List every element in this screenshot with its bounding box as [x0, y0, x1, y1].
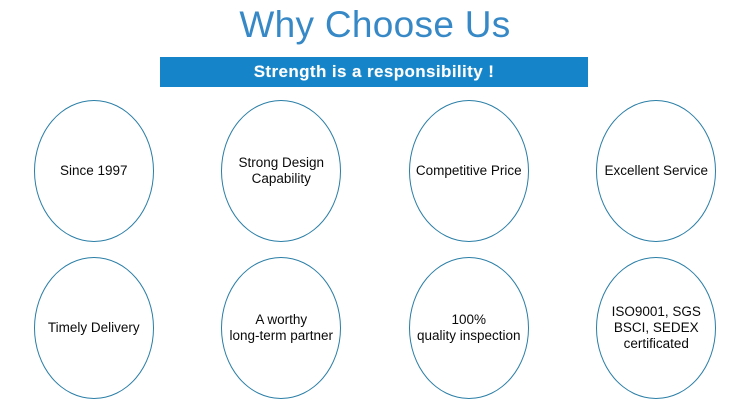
feature-circle-worthy-long-term-partner[interactable]: A worthy long-term partner — [188, 253, 376, 403]
feature-label: ISO9001, SGS BSCI, SEDEX certificated — [612, 304, 701, 352]
feature-label: Since 1997 — [60, 163, 128, 179]
page-title: Why Choose Us — [0, 2, 750, 48]
feature-label-line: Strong Design — [238, 155, 324, 171]
feature-label: A worthy long-term partner — [229, 312, 333, 344]
feature-label: Timely Delivery — [48, 320, 140, 336]
feature-label: 100% quality inspection — [417, 312, 521, 344]
feature-circle-timely-delivery[interactable]: Timely Delivery — [0, 253, 188, 403]
feature-circle-quality-inspection[interactable]: 100% quality inspection — [375, 253, 563, 403]
feature-label-line: ISO9001, SGS — [612, 304, 701, 320]
feature-label: Strong Design Capability — [238, 155, 324, 187]
feature-row-top: Since 1997 Strong Design Capability Comp… — [0, 96, 750, 246]
feature-circle-excellent-service[interactable]: Excellent Service — [563, 96, 750, 246]
banner-text: Strength is a responsibility ! — [254, 62, 495, 82]
feature-circle-competitive-price[interactable]: Competitive Price — [375, 96, 563, 246]
feature-label-line: Since 1997 — [60, 163, 128, 179]
feature-label-line: Timely Delivery — [48, 320, 140, 336]
feature-label-line: Capability — [238, 171, 324, 187]
feature-circle-grid: Since 1997 Strong Design Capability Comp… — [0, 96, 750, 403]
feature-label-line: certificated — [612, 336, 701, 352]
feature-label-line: Excellent Service — [604, 163, 708, 179]
feature-circle-since-1997[interactable]: Since 1997 — [0, 96, 188, 246]
feature-row-bottom: Timely Delivery A worthy long-term partn… — [0, 253, 750, 403]
feature-circle-certifications[interactable]: ISO9001, SGS BSCI, SEDEX certificated — [563, 253, 750, 403]
why-choose-us-slide: Why Choose Us Strength is a responsibili… — [0, 0, 750, 403]
feature-label: Excellent Service — [604, 163, 708, 179]
strength-banner: Strength is a responsibility ! — [160, 57, 588, 87]
feature-label-line: Competitive Price — [416, 163, 522, 179]
feature-label: Competitive Price — [416, 163, 522, 179]
feature-label-line: 100% — [417, 312, 521, 328]
feature-label-line: quality inspection — [417, 328, 521, 344]
feature-circle-strong-design-capability[interactable]: Strong Design Capability — [188, 96, 376, 246]
feature-label-line: BSCI, SEDEX — [612, 320, 701, 336]
feature-label-line: A worthy — [229, 312, 333, 328]
feature-label-line: long-term partner — [229, 328, 333, 344]
